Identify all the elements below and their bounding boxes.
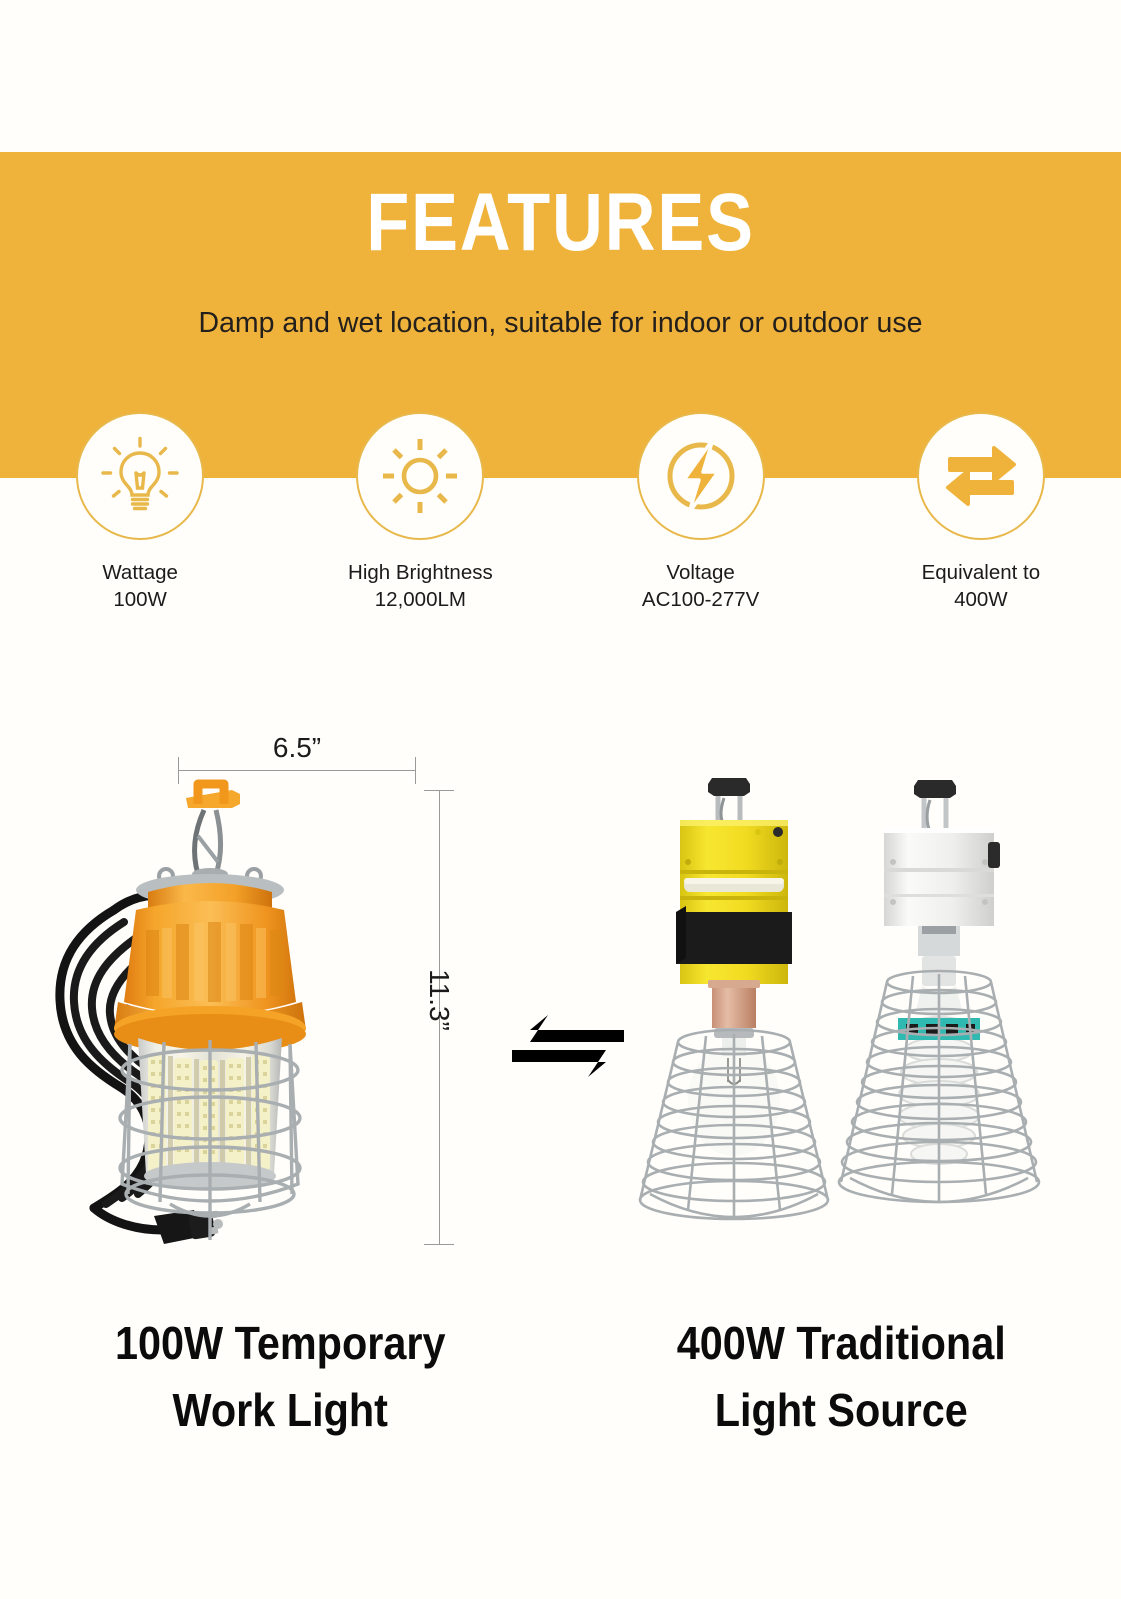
caption-left-line1: 100W Temporary bbox=[28, 1310, 532, 1377]
caption-left-line2: Work Light bbox=[28, 1377, 532, 1444]
incandescent-work-light bbox=[640, 778, 828, 1219]
feature-value: 400W bbox=[922, 586, 1041, 613]
double-swap-arrow-icon bbox=[512, 1015, 624, 1077]
feature-item-brightness: High Brightness 12,000LM bbox=[280, 412, 560, 627]
feature-value: 100W bbox=[102, 586, 178, 613]
caption-right-line1: 400W Traditional bbox=[589, 1310, 1093, 1377]
header-subtitle: Damp and wet location, suitable for indo… bbox=[0, 306, 1121, 340]
led-temporary-work-light-photo bbox=[18, 770, 438, 1260]
feature-caption-voltage: Voltage AC100-277V bbox=[642, 559, 759, 613]
feature-item-wattage: Wattage 100W bbox=[0, 412, 280, 627]
feature-item-equivalent: Equivalent to 400W bbox=[841, 412, 1121, 627]
feature-label: High Brightness bbox=[348, 561, 493, 584]
feature-circle-brightness bbox=[356, 412, 484, 540]
feature-value: AC100-277V bbox=[642, 586, 759, 613]
feature-value: 12,000LM bbox=[348, 586, 493, 613]
cfl-work-light bbox=[839, 780, 1039, 1202]
feature-circle-voltage bbox=[637, 412, 765, 540]
feature-label: Voltage bbox=[666, 561, 734, 584]
two-way-arrows-icon bbox=[938, 433, 1024, 519]
feature-item-voltage: Voltage AC100-277V bbox=[561, 412, 841, 627]
sun-brightness-icon bbox=[377, 433, 463, 519]
feature-caption-equivalent: Equivalent to 400W bbox=[922, 559, 1041, 613]
feature-circle-equivalent bbox=[917, 412, 1045, 540]
feature-caption-wattage: Wattage 100W bbox=[102, 559, 178, 613]
lightbulb-icon bbox=[97, 433, 183, 519]
feature-icon-row: Wattage 100W High Brightnes bbox=[0, 412, 1121, 627]
caption-left-product: 100W Temporary Work Light bbox=[28, 1310, 532, 1470]
hanging-hook bbox=[186, 784, 240, 880]
caption-right-line2: Light Source bbox=[589, 1377, 1093, 1444]
feature-label: Equivalent to bbox=[922, 561, 1041, 584]
traditional-work-lights-photo bbox=[628, 770, 1088, 1240]
lightning-bolt-circle-icon bbox=[658, 433, 744, 519]
caption-right-product: 400W Traditional Light Source bbox=[589, 1310, 1093, 1470]
feature-label: Wattage bbox=[102, 561, 178, 584]
feature-caption-brightness: High Brightness 12,000LM bbox=[348, 559, 493, 613]
dimension-label-width: 6.5” bbox=[178, 732, 416, 764]
comparison-caption-row: 100W Temporary Work Light 400W Tradition… bbox=[0, 1310, 1121, 1470]
page-title: FEATURES bbox=[78, 182, 1042, 264]
feature-circle-wattage bbox=[76, 412, 204, 540]
